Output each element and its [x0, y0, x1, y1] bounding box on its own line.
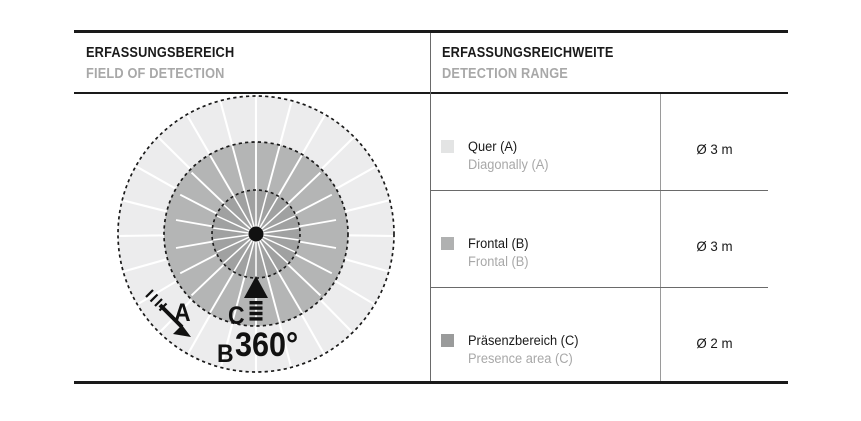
range-value-c: Ø 2 m: [664, 335, 766, 351]
legend-labels: Frontal (B) Frontal (B): [468, 235, 532, 271]
table-range-divider: [660, 94, 661, 381]
legend-label-en: Frontal (B): [468, 253, 529, 271]
legend-row: Präsenzbereich (C) Presence area (C): [431, 332, 660, 368]
table-bottom-rule: [74, 381, 788, 384]
table-top-rule: [74, 30, 788, 33]
table-header-rule: [74, 92, 788, 94]
legend-label-de: Quer (A): [468, 138, 549, 156]
column-header-en: DETECTION RANGE: [442, 65, 614, 83]
detection-range-table: ERFASSUNGSBEREICH FIELD OF DETECTION ERF…: [74, 30, 788, 383]
legend-swatch-c: [441, 334, 454, 347]
legend-labels: Präsenzbereich (C) Presence area (C): [468, 332, 584, 368]
table-row-separator: [431, 287, 768, 288]
legend-row: Frontal (B) Frontal (B): [431, 235, 660, 271]
column-header-de: ERFASSUNGSREICHWEITE: [442, 44, 614, 62]
column-header-field-of-detection: ERFASSUNGSBEREICH FIELD OF DETECTION: [86, 44, 255, 83]
legend-swatch-b: [441, 237, 454, 250]
legend-row: Quer (A) Diagonally (A): [431, 138, 660, 174]
detection-spec-sheet: C B A 360° ERFASSUNGSBEREICH FIELD OF DE…: [0, 0, 861, 421]
table-row-separator: [431, 190, 768, 191]
legend-swatch-a: [441, 140, 454, 153]
range-value-b: Ø 3 m: [664, 238, 766, 254]
range-value-a: Ø 3 m: [664, 141, 766, 157]
table-column-divider: [430, 33, 431, 381]
legend-label-en: Diagonally (A): [468, 156, 549, 174]
column-header-de: ERFASSUNGSBEREICH: [86, 44, 234, 62]
column-header-en: FIELD OF DETECTION: [86, 65, 234, 83]
column-header-detection-range: ERFASSUNGSREICHWEITE DETECTION RANGE: [442, 44, 637, 83]
legend-label-en: Presence area (C): [468, 350, 578, 368]
legend-label-de: Frontal (B): [468, 235, 529, 253]
legend-labels: Quer (A) Diagonally (A): [468, 138, 553, 174]
legend-label-de: Präsenzbereich (C): [468, 332, 578, 350]
